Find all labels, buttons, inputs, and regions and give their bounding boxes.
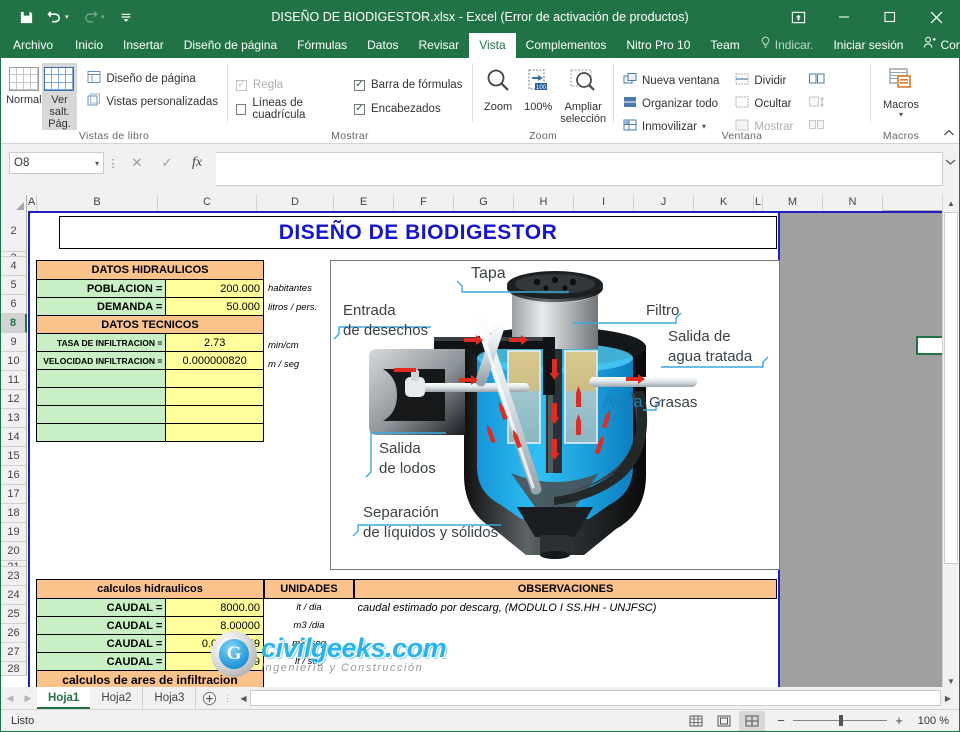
magnifier-icon [484, 67, 512, 98]
group-label-macros: Macros [871, 130, 931, 142]
row-header-25[interactable]: 25 [1, 605, 27, 624]
label-entrada-1: Entrada [343, 302, 396, 319]
outside-print-area [780, 211, 942, 689]
formula-input[interactable] [216, 152, 943, 186]
arrange-all-button[interactable]: Organizar todo [619, 93, 723, 114]
hide-window-button[interactable]: Ocultar [731, 93, 797, 114]
table-row: lt / dia [265, 599, 354, 617]
label-separacion-2: de líquidos y sólidos [363, 524, 498, 541]
zoom-100-label: 100% [524, 101, 552, 113]
accept-entry-button[interactable]: ✓ [152, 152, 182, 174]
table-row [37, 370, 264, 388]
unidades-header: UNIDADES [265, 580, 354, 599]
group-label-ventana: Ventana [614, 130, 870, 142]
zoom-out-button[interactable]: − [775, 713, 787, 728]
empty-value-2[interactable] [166, 388, 264, 406]
share-label: Compartir [940, 33, 960, 58]
zoom-slider[interactable]: − + [775, 713, 905, 728]
caudal-unit-1: lt / dia [265, 599, 354, 617]
caudal-label-2[interactable]: CAUDAL = [37, 617, 166, 635]
civilgeeks-logo: G civilgeeks.com Ingeniería y Construcci… [211, 631, 446, 677]
gridlines-label: Líneas de cuadrícula [252, 97, 342, 121]
row-header-26[interactable]: 26 [1, 624, 27, 643]
scroll-right-arrow[interactable]: ▶ [941, 690, 955, 706]
tasa-infiltracion-value[interactable]: 2.73 [166, 334, 264, 352]
label-separacion-1: Separación [363, 504, 439, 521]
sheet-tab-bar: ◀ ▶ Hoja1 Hoja2 Hoja3 ⋮ ◀ ▶ [1, 687, 959, 709]
split-icon [735, 72, 749, 89]
sheet-tab-hoja1[interactable]: Hoja1 [37, 687, 90, 709]
datos-hidraulicos-header: DATOS HIDRAULICOS [37, 261, 264, 280]
caudal-label-4[interactable]: CAUDAL = [37, 653, 166, 671]
column-headers: ABCDEFGHIJKLMN [1, 195, 959, 211]
zoom-slider-track[interactable] [793, 720, 887, 721]
row-header-13[interactable]: 13 [1, 409, 27, 428]
new-window-icon [623, 72, 637, 89]
empty-label-2[interactable] [37, 388, 166, 406]
worksheet-area: ABCDEFGHIJKLMN 2345689101112131415161718… [1, 195, 959, 689]
column-header-c[interactable]: C [158, 195, 257, 211]
redo-dropdown-icon: ▾ [101, 13, 111, 21]
page-break-left-edge [28, 211, 30, 689]
table-row: DATOS TECNICOS [37, 316, 264, 334]
calculos-hidraulicos-header: calculos hidraulicos [37, 580, 264, 599]
row-header-6[interactable]: 6 [1, 295, 27, 314]
empty-value-1[interactable] [166, 370, 264, 388]
table-row: TASA DE INFILTRACION = 2.73 [37, 334, 264, 352]
label-filtro: Filtro [646, 302, 679, 319]
datos-table[interactable]: DATOS HIDRAULICOS POBLACION = 200.000 DE… [36, 260, 264, 442]
row-header-19[interactable]: 19 [1, 523, 27, 542]
quick-access-toolbar: ▾ ▾ [1, 1, 139, 33]
observacion-text-1: caudal estimado por descarg, (MODULO I S… [355, 599, 777, 617]
column-header-d[interactable]: D [257, 195, 334, 211]
view-side-by-side-icon [809, 72, 825, 89]
lightbulb-icon [760, 33, 771, 58]
row-header-4[interactable]: 4 [1, 257, 27, 276]
label-salida-agua-2: agua tratada [668, 348, 753, 365]
select-all-corner[interactable] [1, 195, 27, 211]
datos-tecnicos-header: DATOS TECNICOS [37, 316, 264, 334]
ribbon-group-mostrar: ✓ Regla ✓ Líneas de cuadrícula ✓ Barra d… [228, 58, 472, 144]
synchronous-scrolling-icon [809, 95, 825, 112]
page-break-preview-icon [44, 67, 74, 91]
headings-checkbox[interactable]: ✓ [354, 104, 365, 115]
label-grasas: Grasas [649, 394, 697, 411]
label-entrada-2: de desechos [343, 322, 428, 339]
title-bar: ▾ ▾ DISEÑO DE BIODIGESTOR.xlsx - Excel (… [1, 1, 959, 33]
column-header-m[interactable]: M [763, 195, 823, 211]
column-header-n[interactable]: N [823, 195, 883, 211]
caudal-label-1[interactable]: CAUDAL = [37, 599, 166, 617]
hide-window-icon [735, 95, 749, 112]
close-button[interactable] [913, 1, 959, 33]
zoom-to-selection-label: Ampliar selección [558, 101, 608, 125]
empty-value-3[interactable] [166, 406, 264, 424]
biodigester-illustration: Tapa Entrada de desechos Filtro Salida d… [331, 261, 779, 569]
maximize-button[interactable] [867, 1, 913, 33]
column-header-f[interactable]: F [394, 195, 454, 211]
row-header-28[interactable]: 28 [1, 662, 27, 676]
tell-me-box[interactable]: Indicar. [750, 33, 824, 58]
last-sheet-arrow-icon[interactable]: ▶ [19, 687, 37, 709]
page-layout-view-button-status[interactable] [711, 711, 737, 731]
table-row: OBSERVACIONES [355, 580, 777, 599]
horizontal-scroll-track[interactable] [250, 690, 941, 706]
column-header-l[interactable]: L [754, 195, 763, 211]
row-header-16[interactable]: 16 [1, 466, 27, 485]
page-layout-icon [87, 70, 101, 87]
page-layout-label: Diseño de página [106, 73, 196, 85]
sheet-tabs: ◀ ▶ Hoja1 Hoja2 Hoja3 [1, 687, 222, 709]
tab-revisar[interactable]: Revisar [409, 33, 470, 58]
formula-bar-checkbox-row[interactable]: ✓ Barra de fórmulas [351, 74, 465, 96]
row-header-8[interactable]: 8 [1, 314, 27, 333]
macros-icon [887, 67, 915, 96]
zoom-100-button[interactable]: 100 100% [518, 63, 558, 113]
tab-inicio[interactable]: Inicio [65, 33, 113, 58]
label-salida-lodos-2: de lodos [379, 460, 436, 477]
tab-split-handle[interactable]: ⋮ [222, 687, 232, 709]
row-header-23[interactable]: 23 [1, 567, 27, 586]
row-header-12[interactable]: 12 [1, 390, 27, 409]
table-row: POBLACION = 200.000 [37, 280, 264, 298]
velocidad-infiltracion-label[interactable]: VELOCIDAD INFILTRACION = [37, 352, 166, 370]
collapse-ribbon-icon[interactable] [943, 128, 955, 141]
headings-label: Encabezados [371, 103, 441, 115]
caudal-value-1[interactable]: 8000.00 [166, 599, 264, 617]
add-sheet-button[interactable] [196, 687, 222, 709]
svg-text:100: 100 [536, 85, 547, 91]
row-header-17[interactable]: 17 [1, 485, 27, 504]
gridlines-checkbox-row[interactable]: ✓ Líneas de cuadrícula [233, 98, 345, 120]
headings-checkbox-row[interactable]: ✓ Encabezados [351, 98, 465, 120]
column-header-h[interactable]: H [514, 195, 574, 211]
table-row: calculos hidraulicos [37, 580, 264, 599]
formula-bar-label: Barra de fórmulas [371, 79, 462, 91]
arrange-all-icon [623, 95, 637, 112]
column-header-g[interactable]: G [454, 195, 514, 211]
window-controls [775, 1, 959, 33]
new-window-button[interactable]: Nueva ventana [619, 70, 723, 91]
row-header-14[interactable]: 14 [1, 428, 27, 447]
caudal-label-3[interactable]: CAUDAL = [37, 635, 166, 653]
first-sheet-arrow-icon[interactable]: ◀ [1, 687, 19, 709]
tab-vista[interactable]: Vista [469, 33, 515, 58]
formula-bar-handle[interactable]: ⋮ [104, 152, 122, 174]
page-layout-view-button[interactable]: Diseño de página [83, 68, 222, 89]
column-header-e[interactable]: E [334, 195, 394, 211]
empty-value-4[interactable] [166, 424, 264, 442]
row-header-24[interactable]: 24 [1, 586, 27, 605]
split-button[interactable]: Dividir [731, 70, 797, 91]
label-tapa: Tapa [471, 265, 506, 282]
table-row [37, 424, 264, 442]
share-button[interactable]: Compartir [913, 33, 960, 58]
logo-mark-icon: G [211, 631, 257, 677]
normal-view-button-status[interactable] [683, 711, 709, 731]
share-person-icon [923, 33, 936, 58]
tasa-infiltracion-label[interactable]: TASA DE INFILTRACION = [37, 334, 166, 352]
macros-button[interactable]: Macros ▾ [876, 63, 926, 120]
gridlines-checkbox[interactable]: ✓ [236, 104, 246, 115]
observaciones-header: OBSERVACIONES [355, 580, 777, 599]
ribbon: Normal Ver salt. Pág. Diseño de página [1, 58, 959, 144]
cancel-entry-button[interactable]: ✕ [122, 152, 152, 174]
row-header-15[interactable]: 15 [1, 447, 27, 466]
vertical-scroll-thumb[interactable] [944, 212, 958, 564]
zoom-selection-icon [569, 67, 597, 98]
undo-icon[interactable] [41, 5, 67, 29]
synchronous-scrolling-button [805, 93, 829, 114]
ruler-checkbox: ✓ [236, 80, 247, 91]
logo-letter: G [219, 639, 249, 669]
excel-window: ▾ ▾ DISEÑO DE BIODIGESTOR.xlsx - Excel (… [0, 0, 960, 732]
normal-view-button[interactable]: Normal [6, 63, 42, 106]
logo-sub-text: Ingeniería y Construcción [261, 662, 446, 674]
tab-nitro-pro-10[interactable]: Nitro Pro 10 [616, 33, 700, 58]
ribbon-display-options-icon[interactable] [775, 1, 821, 33]
custom-views-button[interactable]: Vistas personalizadas [83, 91, 222, 112]
zoom-to-selection-button[interactable]: Ampliar selección [558, 63, 608, 125]
tab-insertar[interactable]: Insertar [113, 33, 174, 58]
label-salida-lodos-1: Salida [379, 440, 421, 457]
selected-cell-o8[interactable] [916, 336, 942, 355]
table-row: UNIDADES [265, 580, 354, 599]
status-bar: Listo − + 100 % [1, 709, 959, 731]
group-label-vistas-de-libro: Vistas de libro [1, 130, 227, 142]
custom-views-label: Vistas personalizadas [106, 96, 218, 108]
ribbon-tab-bar: Archivo Inicio Insertar Diseño de página… [1, 33, 959, 58]
label-agua: Agua [603, 392, 643, 411]
page-break-preview-label: Ver salt. Pág. [42, 94, 78, 130]
row-header-11[interactable]: 11 [1, 371, 27, 390]
grid-canvas[interactable]: DISEÑO DE BIODIGESTOR DATOS HIDRAULICOS … [28, 211, 942, 689]
formula-bar-checkbox[interactable]: ✓ [354, 80, 365, 91]
name-box[interactable]: O8 ▾ [9, 152, 104, 174]
zoom-slider-thumb[interactable] [839, 715, 843, 726]
insert-function-button[interactable]: fx [182, 152, 212, 174]
arrange-all-label: Organizar todo [642, 98, 718, 110]
row-header-20[interactable]: 20 [1, 542, 27, 561]
ribbon-group-macros: Macros ▾ Macros [871, 58, 931, 144]
row-header-10[interactable]: 10 [1, 352, 27, 371]
page-break-preview-button-status[interactable] [739, 711, 765, 731]
row-header-5[interactable]: 5 [1, 276, 27, 295]
column-header-b[interactable]: B [37, 195, 158, 211]
normal-view-label: Normal [6, 94, 41, 106]
empty-label-1[interactable] [37, 370, 166, 388]
table-row: caudal estimado por descarg, (MODULO I S… [355, 599, 777, 617]
label-salida-agua-1: Salida de [668, 328, 731, 345]
zoom-level-label[interactable]: 100 % [907, 715, 949, 727]
ruler-checkbox-row: ✓ Regla [233, 74, 345, 96]
tab-team[interactable]: Team [700, 33, 749, 58]
table-row [37, 388, 264, 406]
name-box-dropdown-icon[interactable]: ▾ [95, 159, 99, 168]
page-break-top-edge [28, 211, 942, 213]
column-header-a[interactable]: A [27, 195, 37, 211]
expand-formula-bar-icon[interactable] [945, 158, 956, 168]
biodigester-diagram[interactable]: Tapa Entrada de desechos Filtro Salida d… [330, 260, 780, 570]
logo-main-text: civilgeeks.com [261, 635, 446, 662]
group-label-zoom: Zoom [473, 130, 613, 142]
velocidad-infiltracion-value[interactable]: 0.000000820 [166, 352, 264, 370]
redo-icon [77, 5, 103, 29]
tab-diseno-de-pagina[interactable]: Diseño de página [174, 33, 287, 58]
normal-view-icon [9, 67, 39, 91]
horizontal-scrollbar[interactable]: ◀ ▶ [236, 690, 955, 706]
custom-views-icon [87, 93, 101, 110]
hide-window-label: Ocultar [754, 98, 791, 110]
formula-bar: O8 ▾ ⋮ ✕ ✓ fx [1, 144, 959, 195]
column-header-i[interactable]: I [574, 195, 634, 211]
vertical-scrollbar[interactable]: ▲ ▼ [942, 195, 958, 689]
page-break-preview-button[interactable]: Ver salt. Pág. [42, 63, 78, 130]
ribbon-group-zoom: Zoom 100 100% Ampliar selección Zoom [473, 58, 613, 144]
ribbon-group-ventana: Nueva ventana Organizar todo Inmovilizar [614, 58, 870, 144]
worksheet-title[interactable]: DISEÑO DE BIODIGESTOR [59, 216, 777, 249]
undo-dropdown-icon[interactable]: ▾ [65, 13, 75, 21]
zoom-button[interactable]: Zoom [478, 63, 518, 113]
ruler-label: Regla [253, 79, 283, 91]
column-header-j[interactable]: J [634, 195, 694, 211]
ribbon-group-vistas-de-libro: Normal Ver salt. Pág. Diseño de página [1, 58, 227, 144]
minimize-button[interactable] [821, 1, 867, 33]
table-row: DATOS HIDRAULICOS [37, 261, 264, 280]
macros-caret-icon[interactable]: ▾ [899, 111, 903, 120]
row-header-2[interactable]: 2 [1, 211, 27, 252]
empty-label-3[interactable] [37, 406, 166, 424]
split-label: Dividir [754, 75, 786, 87]
demanda-value[interactable]: 50.000 [166, 298, 264, 316]
status-text: Listo [11, 715, 34, 727]
row-header-27[interactable]: 27 [1, 643, 27, 662]
empty-label-4[interactable] [37, 424, 166, 442]
table-row [37, 406, 264, 424]
scroll-left-arrow[interactable]: ◀ [236, 690, 250, 706]
sheet-tab-hoja3[interactable]: Hoja3 [143, 687, 196, 709]
zoom-100-icon: 100 [524, 67, 552, 98]
row-headers: 2345689101112131415161718192021232425262… [1, 211, 27, 676]
tab-formulas[interactable]: Fórmulas [287, 33, 357, 58]
row-header-9[interactable]: 9 [1, 333, 27, 352]
table-row: DEMANDA = 50.000 [37, 298, 264, 316]
demanda-label[interactable]: DEMANDA = [37, 298, 166, 316]
scroll-up-arrow[interactable]: ▲ [943, 195, 959, 211]
view-side-by-side-button[interactable] [805, 70, 829, 91]
zoom-label: Zoom [484, 101, 512, 113]
new-window-label: Nueva ventana [642, 75, 719, 87]
row-header-18[interactable]: 18 [1, 504, 27, 523]
table-row: VELOCIDAD INFILTRACION = 0.000000820 [37, 352, 264, 370]
poblacion-value[interactable]: 200.000 [166, 280, 264, 298]
sign-in-button[interactable]: Iniciar sesión [823, 33, 913, 58]
tab-archivo[interactable]: Archivo [1, 33, 65, 58]
sheet-tab-hoja2[interactable]: Hoja2 [90, 687, 143, 709]
save-icon[interactable] [13, 5, 39, 29]
tab-datos[interactable]: Datos [357, 33, 408, 58]
column-header-k[interactable]: K [694, 195, 754, 211]
tab-complementos[interactable]: Complementos [516, 33, 617, 58]
name-box-value: O8 [14, 157, 95, 169]
zoom-in-button[interactable]: + [893, 713, 905, 728]
customize-qat-icon[interactable] [113, 5, 139, 29]
poblacion-label[interactable]: POBLACION = [37, 280, 166, 298]
tell-me-label: Indicar. [775, 33, 814, 58]
observaciones-table[interactable]: OBSERVACIONES caudal estimado por descar… [354, 579, 777, 617]
table-row: CAUDAL = 8000.00 [37, 599, 264, 617]
group-label-mostrar: Mostrar [228, 130, 472, 142]
